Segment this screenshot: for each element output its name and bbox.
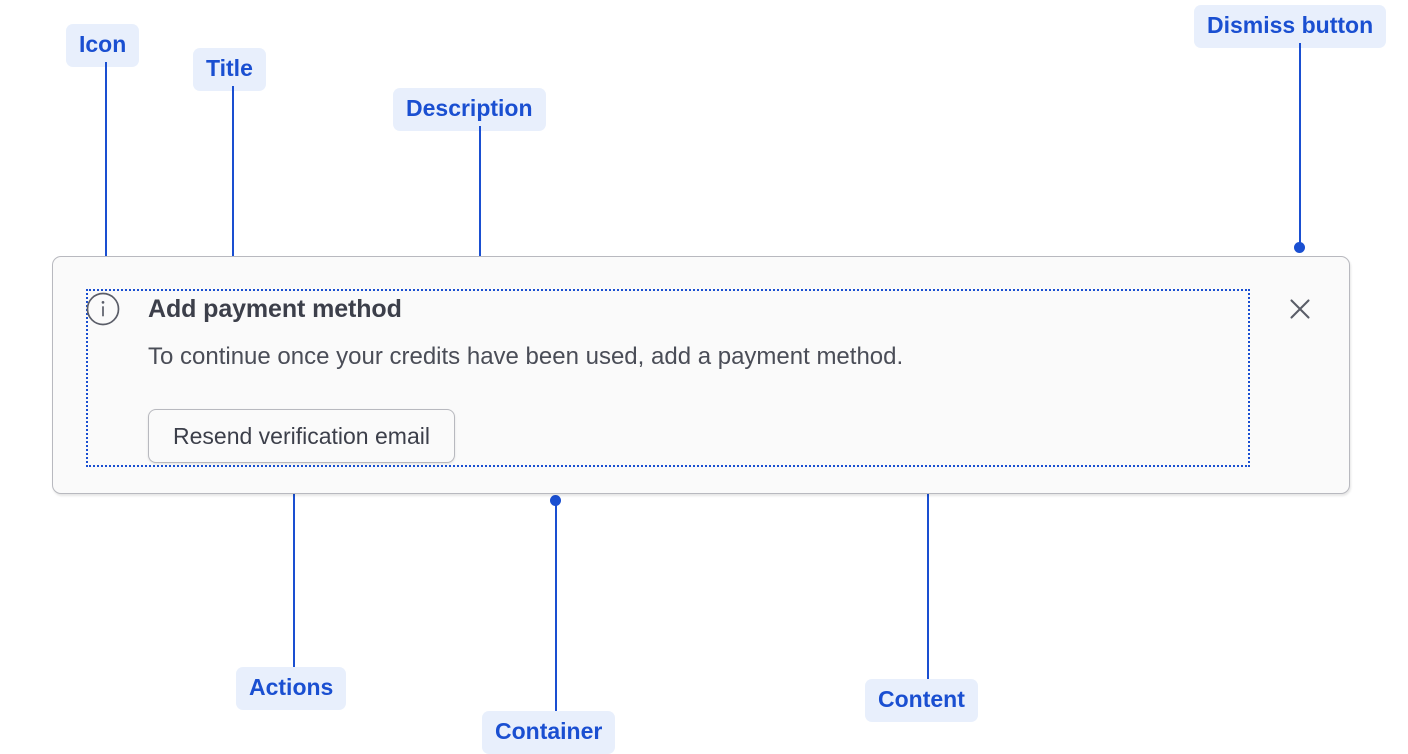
annotation-label-content: Content (865, 679, 978, 722)
annotation-leader-line-title (232, 86, 234, 281)
annotation-leader-line-content (927, 471, 929, 679)
annotation-dot-dismiss-button (1294, 242, 1305, 253)
info-circle-icon (86, 292, 120, 326)
annotation-leader-line-dismiss-button (1299, 43, 1301, 248)
annotation-label-title: Title (193, 48, 266, 91)
dismiss-button[interactable] (1282, 291, 1318, 327)
resend-verification-email-button[interactable]: Resend verification email (148, 409, 455, 463)
alert-actions: Resend verification email (148, 409, 455, 463)
annotation-label-dismiss-button: Dismiss button (1194, 5, 1386, 48)
annotation-leader-line-container (555, 505, 557, 711)
alert-description: To continue once your credits have been … (148, 341, 903, 373)
alert-title: Add payment method (148, 293, 402, 325)
annotation-dot-container (550, 495, 561, 506)
annotation-label-icon: Icon (66, 24, 139, 67)
annotation-label-actions: Actions (236, 667, 346, 710)
close-icon (1282, 291, 1318, 327)
annotation-label-description: Description (393, 88, 546, 131)
annotation-leader-line-icon (105, 62, 107, 269)
